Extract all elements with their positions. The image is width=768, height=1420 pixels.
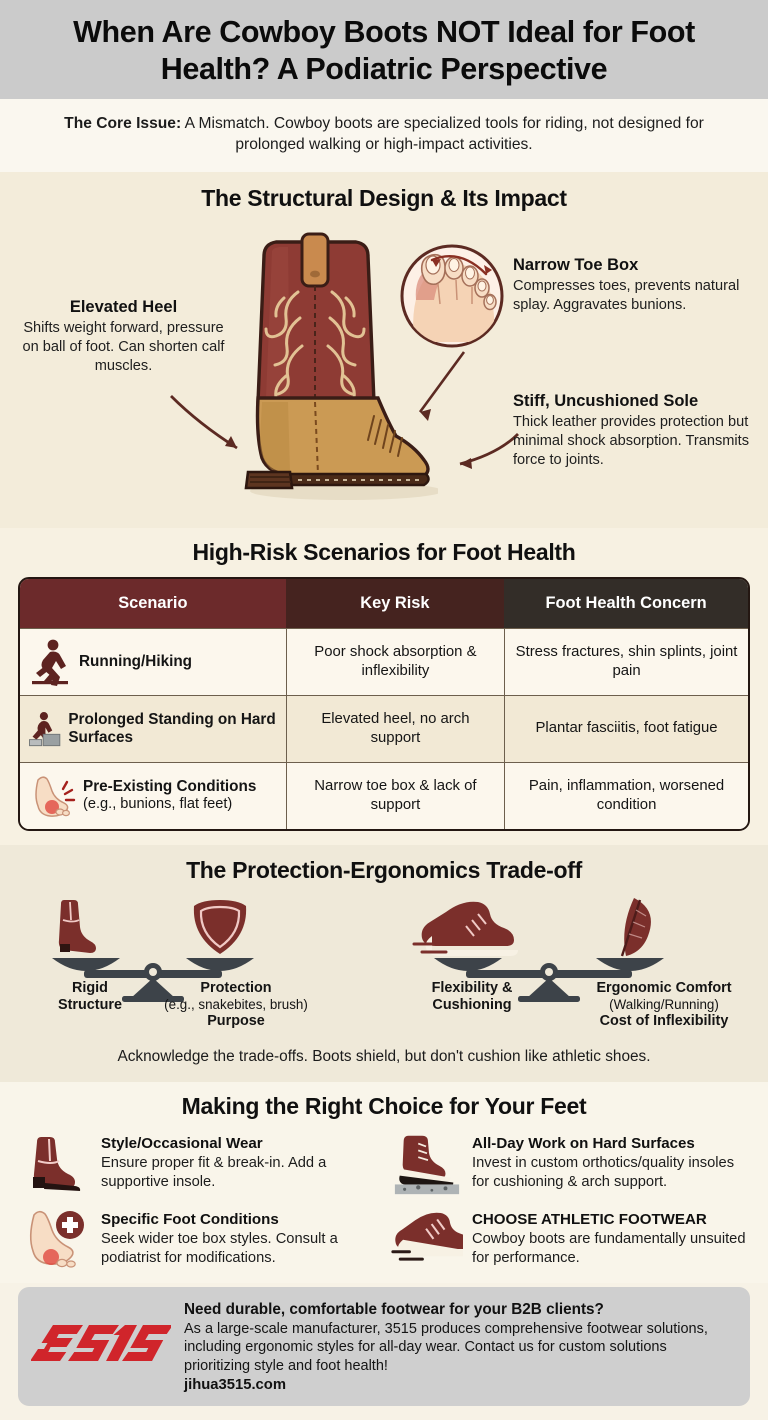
cowboy-boot-icon-small [59, 900, 96, 953]
structural-diagram: Elevated Heel Shifts weight forward, pre… [0, 220, 768, 520]
scenario-label: Pre-Existing Conditions(e.g., bunions, f… [83, 778, 256, 814]
structural-section: The Structural Design & Its Impact [0, 172, 768, 528]
label-text: Ergonomic Comfort [572, 980, 756, 997]
cell-scenario: Running/Hiking [20, 628, 286, 695]
cell-key-risk: Poor shock absorption & inflexibility [286, 628, 504, 695]
choice-body: Cowboy boots are fundamentally unsuited … [472, 1230, 748, 1268]
structural-heading: The Structural Design & Its Impact [0, 185, 768, 212]
scale-right-label-left: Flexibility & Cushioning [412, 980, 532, 1015]
toe-box-leader-line [398, 350, 488, 430]
scale-left-label-left: Rigid Structure [40, 980, 140, 1015]
shield-icon [194, 900, 246, 954]
table-row: Pre-Existing Conditions(e.g., bunions, f… [20, 762, 748, 829]
scale-left-label-right: Protection (e.g., snakebites, brush) Pur… [146, 980, 326, 1031]
cta-headline: Need durable, comfortable footwear for y… [184, 1300, 734, 1319]
table-row: Running/Hiking Poor shock absorption & i… [20, 628, 748, 695]
scenario-label: Running/Hiking [79, 653, 192, 672]
cell-scenario: Pre-Existing Conditions(e.g., bunions, f… [20, 762, 286, 829]
choice-body: Ensure proper fit & break-in. Add a supp… [101, 1154, 377, 1192]
risk-table-section: High-Risk Scenarios for Foot Health Scen… [0, 528, 768, 845]
intro-lead: The Core Issue: [64, 115, 181, 132]
table-row: Prolonged Standing on Hard Surfaces Elev… [20, 695, 748, 762]
tradeoff-heading: The Protection-Ergonomics Trade-off [0, 857, 768, 884]
scale-right-label-right: Ergonomic Comfort (Walking/Running) Cost… [572, 980, 756, 1031]
choice-title: All-Day Work on Hard Surfaces [472, 1135, 695, 1152]
choice-item-athletic-footwear: CHOOSE ATHLETIC FOOTWEAR Cowboy boots ar… [391, 1207, 748, 1273]
label-title: Elevated Heel [16, 298, 231, 318]
work-boot-on-concrete-icon [391, 1131, 463, 1195]
choice-body: Invest in custom orthotics/quality insol… [472, 1154, 748, 1192]
feather-icon [622, 898, 651, 956]
intro-body: A Mismatch. Cowboy boots are specialized… [181, 115, 704, 153]
page-title: When Are Cowboy Boots NOT Ideal for Foot… [26, 14, 742, 87]
column-header-key-risk: Key Risk [286, 579, 504, 628]
tradeoff-note: Acknowledge the trade-offs. Boots shield… [0, 1046, 768, 1076]
scenario-label: Prolonged Standing on Hard Surfaces [68, 711, 277, 748]
column-header-concern: Foot Health Concern [504, 579, 748, 628]
cell-concern: Stress fractures, shin splints, joint pa… [504, 628, 748, 695]
elevated-heel-arrow [165, 390, 255, 470]
label-title: Stiff, Uncushioned Sole [513, 392, 765, 412]
choice-title: Style/Occasional Wear [101, 1135, 263, 1152]
person-on-step-icon [28, 705, 61, 753]
label-sub: (e.g., snakebites, brush) [164, 997, 308, 1012]
choice-item-style: Style/Occasional Wear Ensure proper fit … [20, 1131, 377, 1195]
choice-body: Seek wider toe box styles. Consult a pod… [101, 1230, 377, 1268]
title-band: When Are Cowboy Boots NOT Ideal for Foot… [0, 0, 768, 99]
label-caption: Cost of Inflexibility [572, 1013, 756, 1030]
choice-item-foot-conditions: Specific Foot Conditions Seek wider toe … [20, 1207, 377, 1273]
choice-grid: Style/Occasional Wear Ensure proper fit … [20, 1131, 748, 1273]
cell-concern: Plantar fasciitis, foot fatigue [504, 695, 748, 762]
label-caption: Purpose [146, 1013, 326, 1030]
table-header-row: Scenario Key Risk Foot Health Concern [20, 579, 748, 628]
cell-key-risk: Elevated heel, no arch support [286, 695, 504, 762]
scenario-main: Pre-Existing Conditions [83, 778, 256, 795]
label-text: Flexibility & Cushioning [412, 980, 532, 1015]
label-body: Shifts weight forward, pressure on ball … [16, 319, 231, 376]
tradeoff-scales: Rigid Structure Protection (e.g., snakeb… [0, 894, 768, 1046]
label-body: Compresses toes, prevents natural splay.… [513, 277, 759, 315]
brand-logo-3515 [26, 1317, 176, 1375]
choice-section: Making the Right Choice for Your Feet St… [0, 1082, 768, 1283]
running-person-icon [28, 638, 72, 686]
athletic-shoe-icon [391, 1207, 463, 1265]
label-body: Thick leather provides protection but mi… [513, 413, 765, 470]
label-narrow-toe-box: Narrow Toe Box Compresses toes, prevents… [513, 256, 759, 316]
painful-foot-icon [28, 772, 76, 820]
cta-url[interactable]: jihua3515.com [184, 1377, 734, 1393]
label-sub: (Walking/Running) [609, 997, 719, 1012]
label-text: Protection [146, 980, 326, 997]
choice-item-allday-work: All-Day Work on Hard Surfaces Invest in … [391, 1131, 748, 1195]
label-elevated-heel: Elevated Heel Shifts weight forward, pre… [16, 298, 231, 377]
intro-section: The Core Issue: A Mismatch. Cowboy boots… [0, 99, 768, 171]
label-title: Narrow Toe Box [513, 256, 759, 276]
choice-title: Specific Foot Conditions [101, 1211, 279, 1228]
infographic-page: When Are Cowboy Boots NOT Ideal for Foot… [0, 0, 768, 1376]
athletic-shoe-icon-small [414, 902, 518, 956]
cta-banner[interactable]: Need durable, comfortable footwear for y… [18, 1287, 750, 1406]
scenario-sub: (e.g., bunions, flat feet) [83, 796, 256, 814]
risk-table-wrapper: Scenario Key Risk Foot Health Concern [18, 577, 750, 831]
cell-concern: Pain, inflammation, worsened condition [504, 762, 748, 829]
tradeoff-section: The Protection-Ergonomics Trade-off [0, 845, 768, 1082]
risk-table: Scenario Key Risk Foot Health Concern [18, 577, 750, 831]
risk-table-heading: High-Risk Scenarios for Foot Health [0, 539, 768, 566]
cta-wrapper: Need durable, comfortable footwear for y… [0, 1283, 768, 1420]
intro-text: The Core Issue: A Mismatch. Cowboy boots… [42, 114, 726, 155]
narrow-toe-box-illustration [398, 242, 506, 354]
cowboy-boot-icon [20, 1131, 92, 1195]
cta-body: As a large-scale manufacturer, 3515 prod… [184, 1320, 734, 1375]
cell-scenario: Prolonged Standing on Hard Surfaces [20, 695, 286, 762]
cell-key-risk: Narrow toe box & lack of support [286, 762, 504, 829]
column-header-scenario: Scenario [20, 579, 286, 628]
label-text: Rigid Structure [40, 980, 140, 1015]
choice-heading: Making the Right Choice for Your Feet [0, 1093, 768, 1120]
choice-title: CHOOSE ATHLETIC FOOTWEAR [472, 1211, 707, 1228]
label-stiff-sole: Stiff, Uncushioned Sole Thick leather pr… [513, 392, 765, 471]
foot-with-medical-cross-icon [20, 1207, 92, 1273]
